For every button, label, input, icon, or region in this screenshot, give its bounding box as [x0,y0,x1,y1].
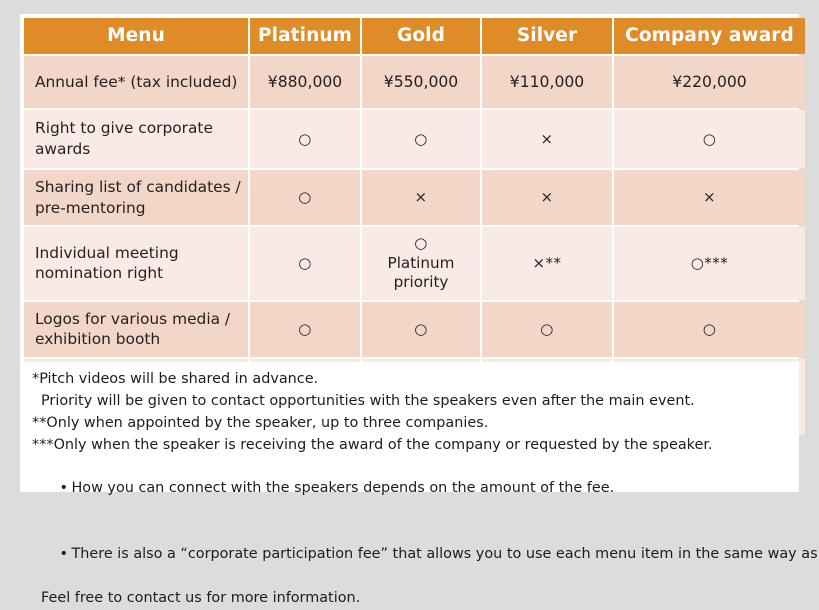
row-label-line: Annual fee* [35,73,125,91]
table-row: Annual fee* (tax included) ¥880,000 ¥550… [24,56,805,108]
row-label-line: Right to give corporate [35,119,213,137]
row-label-corporate-awards: Right to give corporate awards [24,110,248,168]
footnotes-card: *Pitch videos will be shared in advance.… [20,362,799,492]
cell-company-award: ¥220,000 [614,56,805,108]
slide-root: Menu Platinum Gold Silver Company award … [0,0,819,511]
circle-icon: ○ [362,234,480,254]
table-header-row: Menu Platinum Gold Silver Company award [24,18,805,54]
column-header-silver: Silver [482,18,612,54]
cell-silver: ○ [482,302,612,357]
column-header-gold: Gold [362,18,480,54]
cross-icon: × [703,188,716,206]
cell-company-award: × [614,170,805,225]
cell-gold-note-line1: Platinum [362,254,480,273]
circle-icon: ○ [298,130,312,148]
row-label-line: pre-mentoring [35,199,146,217]
cross-icon: ×** [532,254,561,272]
cell-silver: ×** [482,227,612,299]
bullet-icon: • [59,478,71,500]
circle-icon: ○ [298,254,312,272]
table-row: Individual meeting nomination right ○ ○ … [24,227,805,299]
circle-icon: ○ [414,320,428,338]
cell-platinum: ¥880,000 [250,56,360,108]
column-header-platinum: Platinum [250,18,360,54]
cross-icon: × [540,130,553,148]
cell-gold: ○ [362,302,480,357]
cell-gold: × [362,170,480,225]
circle-icon: ○ [703,130,717,148]
cell-platinum: ○ [250,302,360,357]
row-label-logos-media: Logos for various media / exhibition boo… [24,302,248,357]
circle-icon: ○ [298,188,312,206]
circle-icon: ○*** [691,254,729,272]
cell-silver: × [482,110,612,168]
footnote-line: *Pitch videos will be shared in advance. [32,369,787,391]
cross-icon: × [414,188,427,206]
footnote-text: How you can connect with the speakers de… [71,480,614,496]
cell-platinum: ○ [250,170,360,225]
footnote-line: ***Only when the speaker is receiving th… [32,435,787,457]
row-label-line: Logos for various media / [35,310,230,328]
cell-gold: ¥550,000 [362,56,480,108]
table-header: Menu Platinum Gold Silver Company award [24,18,805,54]
column-header-menu: Menu [24,18,248,54]
cell-gold-note-line2: priority [362,273,480,292]
row-label-individual-meeting: Individual meeting nomination right [24,227,248,299]
cell-company-award: ○ [614,302,805,357]
cell-platinum: ○ [250,110,360,168]
row-label-line: nomination right [35,264,163,282]
footnote-text: There is also a “corporate participation… [71,546,819,562]
bullet-icon: • [59,544,71,566]
row-label-line: Sharing list of candidates / [35,178,241,196]
circle-icon: ○ [414,130,428,148]
row-label-line: awards [35,140,90,158]
table-row: Sharing list of candidates / pre-mentori… [24,170,805,225]
row-label-line: Individual meeting [35,244,179,262]
cell-company-award: ○*** [614,227,805,299]
column-header-company-award: Company award [614,18,805,54]
cell-gold: ○ [362,110,480,168]
circle-icon: ○ [540,320,554,338]
circle-icon: ○ [298,320,312,338]
table-row: Logos for various media / exhibition boo… [24,302,805,357]
row-label-sharing-candidates: Sharing list of candidates / pre-mentori… [24,170,248,225]
cell-silver: × [482,170,612,225]
cell-gold: ○ Platinum priority [362,227,480,299]
row-label-annual-fee: Annual fee* (tax included) [24,56,248,108]
circle-icon: ○ [703,320,717,338]
row-label-line: (tax included) [130,73,237,91]
cell-silver: ¥110,000 [482,56,612,108]
footnote-line: Feel free to contact us for more informa… [32,588,787,610]
cell-platinum: ○ [250,227,360,299]
cell-company-award: ○ [614,110,805,168]
row-label-line: exhibition booth [35,330,160,348]
cross-icon: × [540,188,553,206]
table-row: Right to give corporate awards ○ ○ × ○ [24,110,805,168]
footnote-line: Priority will be given to contact opport… [32,391,787,413]
footnote-line: **Only when appointed by the speaker, up… [32,413,787,435]
footnote-bullet-item: •How you can connect with the speakers d… [32,457,787,523]
footnote-bullet-item: •There is also a “corporate participatio… [32,522,787,588]
